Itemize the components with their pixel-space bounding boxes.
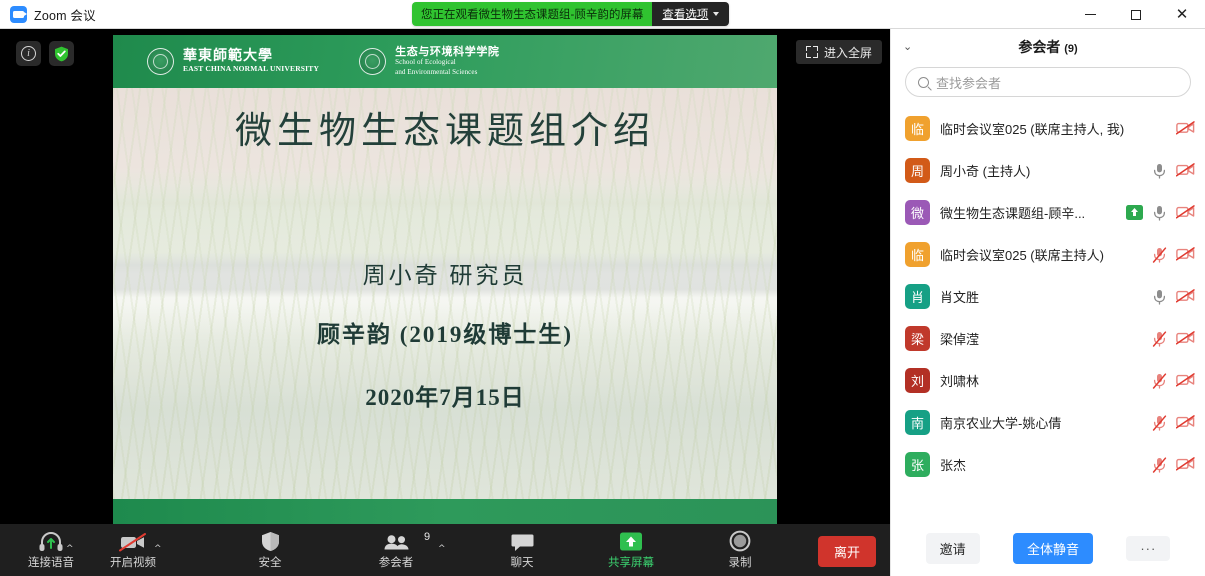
camera-off-icon[interactable]: [1176, 289, 1191, 304]
participant-row[interactable]: 微微生物生态课题组-顾辛...: [891, 191, 1205, 233]
avatar: 刘: [905, 368, 930, 393]
microphone-icon[interactable]: [1152, 289, 1167, 304]
avatar: 周: [905, 158, 930, 183]
participant-name: 周小奇 (主持人): [940, 161, 1142, 180]
zoom-camera-icon: [10, 6, 27, 23]
microphone-muted-icon[interactable]: [1152, 331, 1167, 346]
camera-off-icon[interactable]: [1176, 415, 1191, 430]
participants-panel-footer: 邀请 全体静音 ···: [891, 520, 1205, 576]
headset-join-audio-icon: [38, 530, 64, 552]
minimize-icon: [1085, 14, 1096, 15]
maximize-icon: [1131, 10, 1141, 20]
participants-search-wrap: 查找参会者: [891, 65, 1205, 107]
camera-off-icon[interactable]: [1176, 205, 1191, 220]
slide-text-block: 微生物生态课题组介绍 周小奇 研究员 顾辛韵 (2019级博士生) 2020年7…: [113, 88, 777, 499]
enter-fullscreen-button[interactable]: 进入全屏: [796, 40, 882, 64]
chevron-up-icon[interactable]: ^: [438, 544, 446, 554]
security-label: 安全: [259, 554, 282, 570]
security-button[interactable]: 安全: [242, 524, 298, 576]
participant-name: 微生物生态课题组-顾辛...: [940, 203, 1116, 222]
participants-panel-header: ⌄ 参会者 (9): [891, 29, 1205, 65]
invite-button[interactable]: 邀请: [926, 533, 980, 564]
slide-presenter: 周小奇 研究员: [113, 256, 777, 290]
app-title: Zoom 会议: [34, 5, 96, 24]
chat-label: 聊天: [511, 554, 534, 570]
participant-row[interactable]: 肖肖文胜: [891, 275, 1205, 317]
participants-panel-title: 参会者 (9): [1018, 37, 1077, 57]
participant-status-icons: [1152, 373, 1191, 388]
microphone-icon[interactable]: [1152, 163, 1167, 178]
participant-name: 肖文胜: [940, 287, 1142, 306]
minimize-button[interactable]: [1067, 0, 1113, 29]
microphone-muted-icon[interactable]: [1152, 247, 1167, 262]
microphone-muted-icon[interactable]: [1152, 457, 1167, 472]
avatar: 南: [905, 410, 930, 435]
start-video-button[interactable]: ^ 开启视频: [104, 524, 162, 576]
camera-off-icon[interactable]: [1176, 121, 1191, 136]
slide-footer-band: [113, 499, 777, 524]
search-icon: [918, 77, 929, 88]
share-screen-icon: [618, 530, 644, 552]
leave-meeting-button[interactable]: 离开: [818, 536, 876, 567]
more-options-label: ···: [1140, 541, 1156, 556]
sharing-message: 您正在观看微生物生态课题组-顾辛韵的屏幕: [412, 2, 652, 26]
camera-off-icon[interactable]: [1176, 163, 1191, 178]
university-name-cn: 華東師範大學: [183, 49, 319, 65]
microphone-muted-icon[interactable]: [1152, 415, 1167, 430]
slide-date: 2020年7月15日: [113, 378, 777, 412]
camera-off-icon: [118, 530, 148, 552]
participant-status-icons: [1152, 415, 1191, 430]
record-label: 录制: [729, 554, 752, 570]
camera-off-icon[interactable]: [1176, 457, 1191, 472]
participant-status-icons: [1152, 163, 1191, 178]
avatar: 临: [905, 116, 930, 141]
university-seal-icon: [147, 48, 174, 75]
avatar: 临: [905, 242, 930, 267]
microphone-icon[interactable]: [1152, 205, 1167, 220]
maximize-button[interactable]: [1113, 0, 1159, 29]
microphone-placeholder-icon[interactable]: [1152, 121, 1167, 136]
participant-status-icons: [1152, 289, 1191, 304]
school-name-en-line2: and Environmental Sciences: [395, 68, 499, 77]
join-audio-button[interactable]: ^ 连接语音: [22, 524, 80, 576]
app-identity: Zoom 会议: [0, 5, 96, 24]
participant-name: 梁倬滢: [940, 329, 1142, 348]
participants-icon: [383, 530, 410, 552]
window-controls: ✕: [1067, 0, 1205, 29]
participant-name: 南京农业大学-姚心倩: [940, 413, 1142, 432]
zoom-meeting-window: Zoom 会议 您正在观看微生物生态课题组-顾辛韵的屏幕 查看选项 ✕ i: [0, 0, 1205, 576]
share-screen-button[interactable]: 共享屏幕: [602, 524, 660, 576]
avatar: 肖: [905, 284, 930, 309]
participant-name: 临时会议室025 (联席主持人): [940, 245, 1142, 264]
meeting-info-button[interactable]: i: [16, 41, 41, 66]
share-screen-label: 共享屏幕: [608, 554, 654, 570]
participants-label: 参会者: [379, 554, 414, 570]
info-icon: i: [21, 46, 36, 61]
stage-status-badges: i: [16, 41, 74, 66]
participants-panel: ⌄ 参会者 (9) 查找参会者 临临时会议室025 (联席主持人, 我)周周小奇…: [890, 29, 1205, 576]
camera-off-icon[interactable]: [1176, 331, 1191, 346]
participant-row[interactable]: 南南京农业大学-姚心倩: [891, 401, 1205, 443]
participants-count: (9): [1064, 43, 1077, 55]
avatar: 微: [905, 200, 930, 225]
participant-status-icons: [1152, 121, 1191, 136]
slide-header-band: 華東師範大學 EAST CHINA NORMAL UNIVERSITY 生态与环…: [113, 35, 777, 88]
participant-name: 临时会议室025 (联席主持人, 我): [940, 119, 1142, 138]
encryption-status-button[interactable]: [49, 41, 74, 66]
school-name-en-line1: School of Ecological: [395, 58, 499, 67]
participant-status-icons: [1152, 457, 1191, 472]
chat-bubble-icon: [511, 530, 534, 552]
participants-count-badge: 9: [424, 531, 430, 543]
enter-fullscreen-label: 进入全屏: [824, 44, 872, 61]
mute-all-label: 全体静音: [1027, 542, 1079, 557]
more-options-button[interactable]: ···: [1126, 536, 1170, 561]
participant-row[interactable]: 临临时会议室025 (联席主持人): [891, 233, 1205, 275]
chevron-up-icon[interactable]: ^: [154, 544, 162, 554]
shield-security-icon: [261, 530, 280, 552]
participant-row[interactable]: 张张杰: [891, 443, 1205, 485]
view-options-button[interactable]: 查看选项: [652, 2, 729, 26]
participant-row[interactable]: 梁梁倬滢: [891, 317, 1205, 359]
chevron-up-icon[interactable]: ^: [66, 544, 74, 554]
camera-off-icon[interactable]: [1176, 373, 1191, 388]
camera-off-icon[interactable]: [1176, 247, 1191, 262]
university-branding: 華東師範大學 EAST CHINA NORMAL UNIVERSITY: [147, 48, 319, 75]
microphone-muted-icon[interactable]: [1152, 373, 1167, 388]
start-video-label: 开启视频: [110, 554, 156, 570]
shared-screen-stage: i 进入全屏 華東師範大學 EAST CHINA NORMAL UNIVERSI…: [0, 29, 890, 524]
school-name-cn: 生态与环境科学学院: [395, 46, 499, 59]
participant-name: 刘啸林: [940, 371, 1142, 390]
title-bar: Zoom 会议 您正在观看微生物生态课题组-顾辛韵的屏幕 查看选项 ✕: [0, 0, 1205, 29]
university-name-en: EAST CHINA NORMAL UNIVERSITY: [183, 65, 319, 74]
shared-presentation-slide: 華東師範大學 EAST CHINA NORMAL UNIVERSITY 生态与环…: [113, 35, 777, 524]
participant-row[interactable]: 周周小奇 (主持人): [891, 149, 1205, 191]
meeting-toolbar: ^ 连接语音 ^ 开启视频 安全: [0, 524, 890, 576]
participant-status-icons: [1126, 205, 1191, 220]
record-icon: [729, 530, 751, 552]
school-seal-icon: [359, 48, 386, 75]
expand-fullscreen-icon: [806, 46, 818, 58]
screen-share-indicator-icon: [1126, 205, 1143, 220]
close-icon: ✕: [1176, 7, 1189, 22]
record-button[interactable]: 录制: [712, 524, 768, 576]
join-audio-label: 连接语音: [28, 554, 74, 570]
sharing-banner: 您正在观看微生物生态课题组-顾辛韵的屏幕 查看选项: [412, 2, 729, 26]
avatar: 梁: [905, 326, 930, 351]
participant-status-icons: [1152, 331, 1191, 346]
shield-check-icon: [54, 46, 69, 62]
school-branding: 生态与环境科学学院 School of Ecological and Envir…: [359, 46, 499, 78]
chevron-down-icon: [713, 12, 719, 16]
participants-title-label: 参会者: [1018, 39, 1060, 55]
chat-button[interactable]: 聊天: [494, 524, 550, 576]
leave-meeting-label: 离开: [834, 545, 860, 560]
participant-name: 张杰: [940, 455, 1142, 474]
participant-row[interactable]: 刘刘啸林: [891, 359, 1205, 401]
slide-co-presenter: 顾辛韵 (2019级博士生): [113, 315, 777, 349]
chevron-down-icon[interactable]: ⌄: [903, 40, 912, 53]
view-options-label: 查看选项: [662, 6, 708, 22]
participant-status-icons: [1152, 247, 1191, 262]
avatar: 张: [905, 452, 930, 477]
close-button[interactable]: ✕: [1159, 0, 1205, 29]
search-participants-input[interactable]: 查找参会者: [905, 67, 1191, 97]
slide-title: 微生物生态课题组介绍: [113, 100, 777, 154]
search-placeholder: 查找参会者: [936, 73, 1001, 92]
invite-label: 邀请: [940, 542, 966, 557]
participant-row[interactable]: 临临时会议室025 (联席主持人, 我): [891, 107, 1205, 149]
participants-button[interactable]: 9 ^ 参会者: [368, 524, 424, 576]
mute-all-button[interactable]: 全体静音: [1013, 533, 1093, 564]
participants-list[interactable]: 临临时会议室025 (联席主持人, 我)周周小奇 (主持人)微微生物生态课题组-…: [891, 107, 1205, 527]
